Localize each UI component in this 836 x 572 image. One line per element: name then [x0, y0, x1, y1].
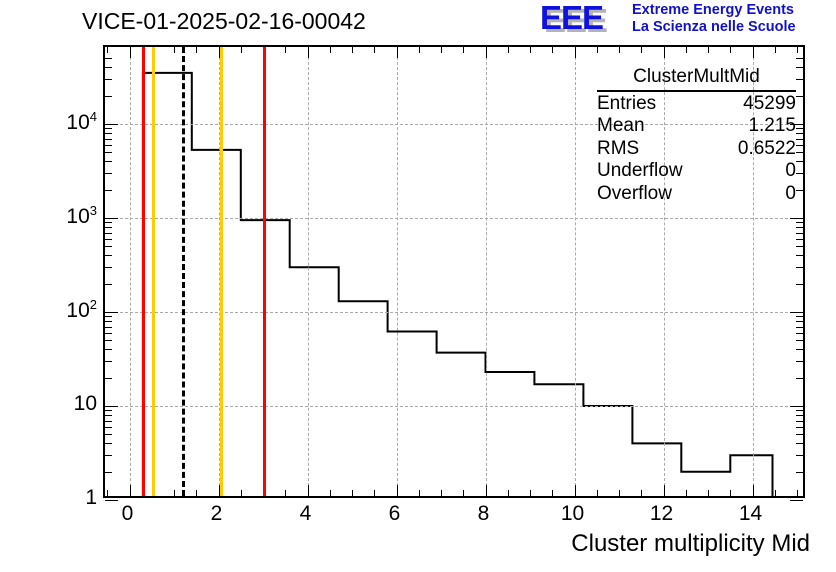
y-axis-tick-right [796, 415, 803, 416]
x-axis-tick [486, 485, 487, 496]
eee-logo-main-text: EEE [540, 2, 603, 34]
x-axis-tick-top [308, 47, 309, 58]
y-axis-tick-right [796, 434, 803, 435]
stats-row: Entries45299 [597, 93, 796, 116]
y-axis-tick-right [796, 455, 803, 456]
x-tick-label: 12 [650, 502, 673, 526]
y-axis-tick-right [796, 427, 803, 428]
y-axis-tick-right [796, 139, 803, 140]
x-axis-tick [797, 490, 798, 496]
x-axis-tick-top [397, 47, 398, 58]
x-axis-title: Cluster multiplicity Mid [571, 530, 810, 558]
x-axis-tick-top [463, 47, 464, 53]
y-tick-label: 10 [74, 392, 97, 416]
y-axis-tick-right [790, 312, 803, 313]
y-axis-tick [105, 406, 118, 407]
x-tick-label: 14 [739, 502, 762, 526]
page-title: VICE-01-2025-02-16-00042 [82, 8, 366, 35]
y-axis-tick-right [796, 255, 803, 256]
y-axis-tick-right [796, 340, 803, 341]
y-axis-tick-right [796, 316, 803, 317]
marker-line-mean-dashed [182, 47, 185, 496]
x-axis-tick [397, 485, 398, 496]
x-axis-tick-top [664, 47, 665, 58]
x-axis-tick [130, 485, 131, 496]
x-axis-tick [597, 490, 598, 496]
y-axis-tick [105, 218, 118, 219]
y-axis-tick-right [796, 128, 803, 129]
x-axis-tick [196, 490, 197, 496]
x-axis-tick [508, 490, 509, 496]
y-tick-label: 1 [85, 486, 97, 510]
x-axis-tick-top [575, 47, 576, 58]
y-axis-tick [105, 246, 112, 247]
y-axis-tick-right [796, 152, 803, 153]
y-axis-tick-right [796, 145, 803, 146]
y-axis-tick [105, 161, 112, 162]
x-axis-tick [686, 490, 687, 496]
marker-line-red-low [142, 47, 145, 496]
x-axis-tick [753, 485, 754, 496]
root-canvas: VICE-01-2025-02-16-00042 EEE EEE Extreme… [0, 0, 836, 572]
x-axis-tick [419, 490, 420, 496]
eee-logo-caption-line2: La Scienza nelle Scuole [632, 19, 796, 36]
x-axis-tick-top [530, 47, 531, 53]
marker-line-red-high [263, 47, 266, 496]
x-axis-tick [285, 490, 286, 496]
y-axis-tick [105, 434, 112, 435]
y-axis-tick [105, 378, 112, 379]
y-tick-label: 102 [66, 297, 97, 323]
y-axis-tick [105, 67, 112, 68]
y-axis-tick [105, 340, 112, 341]
x-axis-tick-top [552, 47, 553, 53]
gridline-vertical [486, 47, 487, 496]
gridline-horizontal [105, 312, 803, 313]
x-axis-tick-top [174, 47, 175, 53]
y-axis-tick [105, 173, 112, 174]
y-axis-tick-right [796, 267, 803, 268]
x-tick-label: 6 [389, 502, 401, 526]
stats-row-key: RMS [597, 138, 639, 161]
x-axis-tick [441, 490, 442, 496]
y-axis-tick [105, 267, 112, 268]
x-axis-tick-top [775, 47, 776, 53]
marker-line-orange-high [220, 47, 223, 496]
stats-row: Mean1.215 [597, 115, 796, 138]
stats-row-key: Underflow [597, 160, 683, 183]
y-axis-tick [105, 190, 112, 191]
y-axis-tick-right [796, 410, 803, 411]
y-axis-tick-right [796, 58, 803, 59]
x-tick-label: 10 [561, 502, 584, 526]
y-axis-tick-right [796, 239, 803, 240]
y-axis-tick-right [796, 222, 803, 223]
x-axis-tick [664, 485, 665, 496]
x-axis-tick-top [686, 47, 687, 53]
y-axis-tick [105, 410, 112, 411]
y-axis-tick [105, 312, 118, 313]
x-axis-tick [107, 490, 108, 496]
y-axis-tick-right [790, 500, 803, 501]
x-axis-tick-top [797, 47, 798, 53]
y-axis-tick-right [796, 321, 803, 322]
y-axis-tick [105, 79, 112, 80]
y-axis-tick [105, 415, 112, 416]
stats-row-key: Mean [597, 115, 645, 138]
y-axis-tick [105, 133, 112, 134]
y-axis-tick-right [796, 246, 803, 247]
y-axis-tick [105, 145, 112, 146]
x-axis-tick [775, 490, 776, 496]
y-tick-label: 104 [66, 109, 97, 135]
y-axis-tick [105, 139, 112, 140]
gridline-vertical [575, 47, 576, 496]
stats-row: RMS0.6522 [597, 138, 796, 161]
y-axis-tick-right [790, 218, 803, 219]
stats-row-key: Entries [597, 93, 656, 116]
y-axis-tick-right [796, 227, 803, 228]
y-axis-tick-right [796, 79, 803, 80]
x-axis-tick [619, 490, 620, 496]
x-axis-tick-top [641, 47, 642, 53]
y-axis-tick-right [796, 96, 803, 97]
y-axis-tick [105, 124, 118, 125]
stats-row-value: 45299 [743, 93, 796, 116]
y-axis-tick [105, 58, 112, 59]
x-axis-tick [463, 490, 464, 496]
y-axis-tick [105, 349, 112, 350]
y-tick-label: 103 [66, 203, 97, 229]
y-axis-tick [105, 333, 112, 334]
stats-row-value: 1.215 [748, 115, 796, 138]
x-axis-tick [575, 485, 576, 496]
stats-box-rows: Entries45299Mean1.215RMS0.6522Underflow0… [597, 93, 796, 206]
x-tick-label: 0 [122, 502, 134, 526]
x-axis-tick-top [285, 47, 286, 53]
x-axis-tick-top [486, 47, 487, 58]
gridline-vertical [308, 47, 309, 496]
y-axis-tick [105, 222, 112, 223]
x-axis-tick-top [441, 47, 442, 53]
x-axis-tick-top [107, 47, 108, 53]
stats-row-key: Overflow [597, 183, 672, 206]
x-axis-tick-top [419, 47, 420, 53]
y-axis-tick [105, 152, 112, 153]
x-axis-tick-top [753, 47, 754, 58]
x-axis-tick-top [619, 47, 620, 53]
y-axis-tick [105, 455, 112, 456]
y-axis-tick [105, 284, 112, 285]
y-axis-tick-right [796, 333, 803, 334]
y-axis-tick-right [796, 349, 803, 350]
y-axis-tick [105, 227, 112, 228]
x-tick-label: 2 [211, 502, 223, 526]
stats-row: Underflow0 [597, 160, 796, 183]
y-axis-tick-right [796, 233, 803, 234]
y-axis-tick-right [796, 284, 803, 285]
marker-line-orange-low [152, 47, 155, 496]
y-axis-tick-right [796, 361, 803, 362]
stats-row-value: 0 [785, 183, 796, 206]
eee-logo: EEE EEE Extreme Energy Events La Scienza… [540, 2, 832, 40]
x-axis-tick [641, 490, 642, 496]
y-axis-tick-right [796, 443, 803, 444]
gridline-vertical [397, 47, 398, 496]
y-axis-tick [105, 500, 118, 501]
stats-row-value: 0 [785, 160, 796, 183]
x-axis-tick-top [708, 47, 709, 53]
x-axis-tick [552, 490, 553, 496]
y-axis-tick [105, 128, 112, 129]
y-axis-tick [105, 233, 112, 234]
x-axis-tick [530, 490, 531, 496]
y-axis-tick [105, 427, 112, 428]
stats-box: ClusterMultMid Entries45299Mean1.215RMS0… [597, 66, 796, 205]
x-axis-tick-top [130, 47, 131, 58]
x-axis-tick-top [352, 47, 353, 53]
y-axis-tick [105, 472, 112, 473]
y-axis-tick [105, 316, 112, 317]
y-axis-tick-right [796, 133, 803, 134]
x-axis-tick-top [730, 47, 731, 53]
x-tick-label: 4 [300, 502, 312, 526]
y-axis-tick-right [796, 67, 803, 68]
y-axis-tick [105, 255, 112, 256]
x-axis-tick [174, 490, 175, 496]
y-axis-tick-right [796, 378, 803, 379]
y-axis-tick [105, 321, 112, 322]
eee-logo-caption-line1: Extreme Energy Events [632, 2, 796, 19]
x-tick-label: 8 [478, 502, 490, 526]
gridline-vertical [130, 47, 131, 496]
y-axis-tick [105, 361, 112, 362]
stats-row-value: 0.6522 [738, 138, 796, 161]
x-axis-tick [708, 490, 709, 496]
y-axis-tick [105, 443, 112, 444]
y-axis-tick [105, 96, 112, 97]
x-axis-tick-top [374, 47, 375, 53]
x-axis-tick-top [597, 47, 598, 53]
x-axis-tick-top [508, 47, 509, 53]
y-axis-tick [105, 421, 112, 422]
x-axis-tick [330, 490, 331, 496]
x-axis-tick-top [330, 47, 331, 53]
eee-logo-caption: Extreme Energy Events La Scienza nelle S… [632, 2, 796, 36]
eee-logo-mark: EEE EEE [540, 4, 628, 36]
y-axis-tick-right [796, 190, 803, 191]
x-axis-tick [241, 490, 242, 496]
y-axis-tick-right [796, 327, 803, 328]
y-axis-tick-right [796, 472, 803, 473]
stats-box-title: ClusterMultMid [597, 66, 796, 92]
gridline-horizontal [105, 406, 803, 407]
y-axis-tick-right [796, 161, 803, 162]
stats-row: Overflow0 [597, 183, 796, 206]
y-axis-tick-right [790, 406, 803, 407]
y-axis-tick [105, 239, 112, 240]
y-axis-tick-right [796, 421, 803, 422]
y-axis-tick-right [796, 173, 803, 174]
x-axis-tick [374, 490, 375, 496]
x-axis-tick [308, 485, 309, 496]
gridline-horizontal [105, 218, 803, 219]
x-axis-tick-top [241, 47, 242, 53]
y-axis-tick [105, 327, 112, 328]
x-axis-tick [730, 490, 731, 496]
x-axis-tick-top [196, 47, 197, 53]
x-axis-tick [352, 490, 353, 496]
